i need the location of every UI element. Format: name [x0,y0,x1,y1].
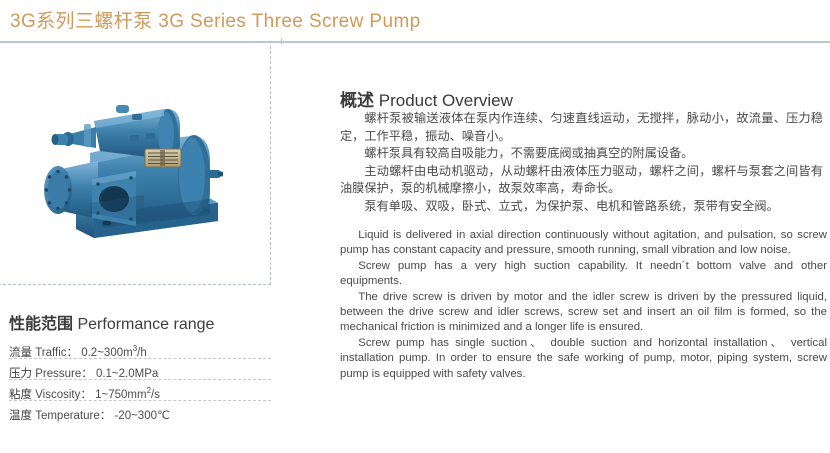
spec-sep-pressure: ： [81,368,93,380]
nameplate [145,149,181,167]
spec-unit-viscosity: mm [127,389,146,401]
header-divider [0,41,830,43]
overview-cn-paragraph-4: 泵有单吸、双吸，卧式、立式，为保护泵、电机和管路系统，泵带有安全阀。 [340,198,823,216]
spec-value-traffic: 0.2~300 [81,347,123,359]
spec-label-en-pressure: Pressure [35,368,81,380]
spec-unit-tail-viscosity: /s [151,389,160,401]
spec-row-temperature: 温度 Temperature： -20~300℃ [9,401,271,421]
product-image [32,91,242,251]
spec-value-pressure: 0.1~2.0 [96,368,135,380]
overview-en-paragraph-3: The drive screw is driven by motor and t… [340,290,827,336]
spec-sep-traffic: ： [67,347,79,359]
overview-cn-paragraph-3: 主动螺杆由电动机驱动，从动螺杆由液体压力驱动，螺杆之间，螺杆与泵套之间皆有油膜保… [340,163,823,198]
product-overview-heading: 概述 Product Overview [340,86,513,111]
page-title: 3G系列三螺杆泵 3G Series Three Screw Pump [10,6,421,33]
page-header: 3G系列三螺杆泵 3G Series Three Screw Pump [0,0,830,42]
spec-label-en-traffic: Traffic [35,347,66,359]
spec-row-viscosity: 粘度 Viscosity： 1~750mm2/s [9,380,271,401]
spec-sep-viscosity: ： [80,389,92,401]
spec-row-pressure: 压力 Pressure： 0.1~2.0MPa [9,359,271,380]
spec-label-cn-viscosity: 粘度 [9,389,32,401]
overview-en-paragraph-4: Screw pump has single suction、 double su… [340,336,827,382]
header-divider-tick [281,38,282,44]
catalog-page: 3G系列三螺杆泵 3G Series Three Screw Pump [0,0,830,453]
spec-unit-tail-traffic: /h [137,347,147,359]
spec-label-en-temperature: Temperature [35,410,100,422]
spec-sep-temperature: ： [100,410,112,422]
product-overview-heading-en: Product Overview [379,91,513,110]
spec-unit-traffic: m [123,347,133,359]
spec-row-traffic: 流量 Traffic： 0.2~300m3/h [9,338,271,359]
performance-range-heading: 性能范围 Performance range [9,310,214,334]
spec-value-viscosity: 1~750 [95,389,127,401]
performance-range-heading-en: Performance range [77,316,214,333]
spec-label-cn-traffic: 流量 [9,347,32,359]
spec-value-temperature: -20~300 [114,410,157,422]
product-overview-heading-cn: 概述 [340,91,374,110]
spec-unit-pressure: MPa [135,368,159,380]
overview-chinese-body: 螺杆泵被输送液体在泵内作连续、匀速直线运动，无搅拌，脉动小，故流量、压力稳定，工… [340,110,823,215]
overview-en-paragraph-1: Liquid is delivered in axial direction c… [340,228,827,259]
spec-label-cn-pressure: 压力 [9,368,32,380]
performance-spec-list: 流量 Traffic： 0.2~300m3/h 压力 Pressure： 0.1… [9,338,271,421]
product-image-frame [0,46,271,285]
performance-range-heading-cn: 性能范围 [9,316,73,333]
spec-unit-temperature: ℃ [157,410,170,422]
overview-cn-paragraph-2: 螺杆泵具有较高自吸能力，不需要底阀或抽真空的附属设备。 [340,145,823,163]
overview-cn-paragraph-1: 螺杆泵被输送液体在泵内作连续、匀速直线运动，无搅拌，脉动小，故流量、压力稳定，工… [340,110,823,145]
spec-label-cn-temperature: 温度 [9,410,32,422]
overview-en-paragraph-2: Screw pump has a very high suction capab… [340,259,827,290]
spec-label-en-viscosity: Viscosity [35,389,80,401]
overview-english-body: Liquid is delivered in axial direction c… [340,228,827,382]
